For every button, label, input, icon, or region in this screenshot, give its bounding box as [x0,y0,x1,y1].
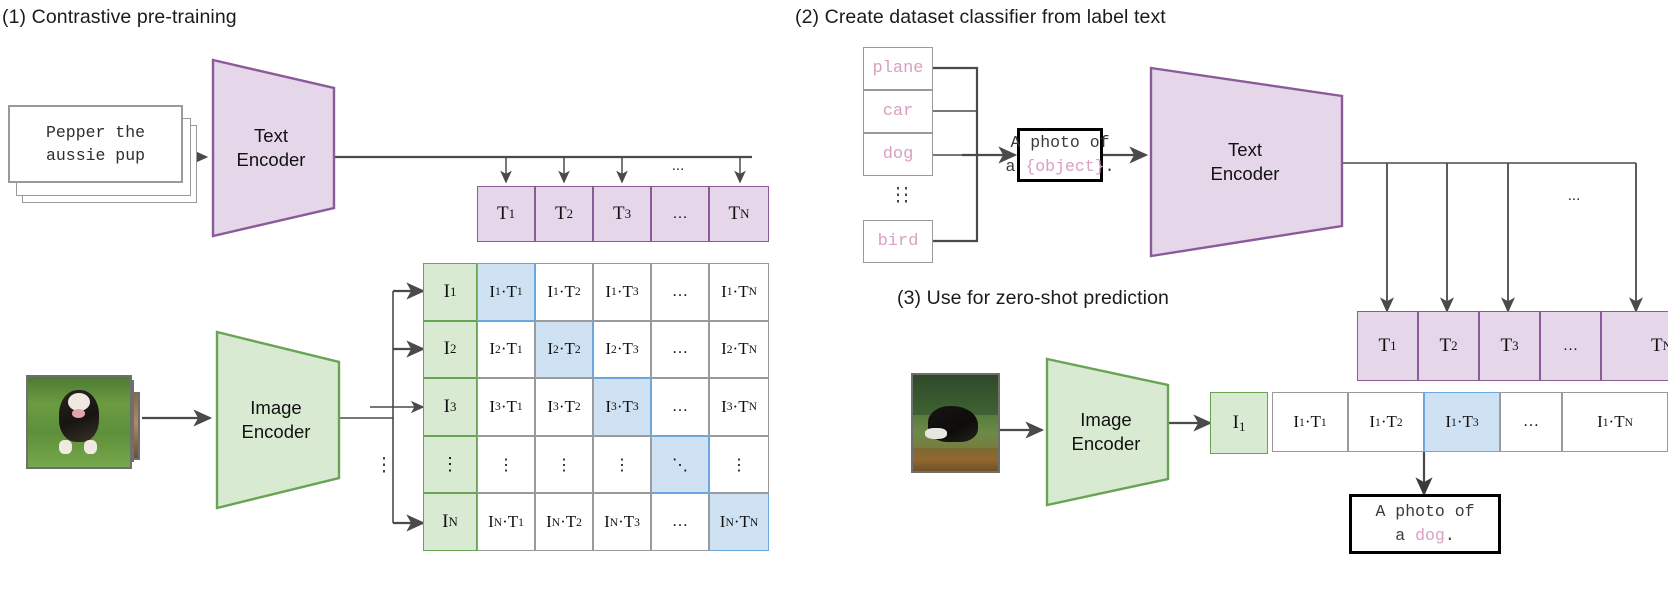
text-embedding-2-cell-5: TN [1601,311,1668,381]
caption-card: Pepper the aussie pup [8,105,183,183]
image-embedding-cell-3: I3 [423,378,477,436]
prediction-score-row: I1·T1I1·T2I1·T3…I1·TN [1272,392,1668,452]
text-encoder-2-line2: Encoder [1211,162,1280,186]
prompt-template-text: A photo of a {object}. [1006,131,1115,179]
class-label-list: planecardogbird [863,47,933,260]
text-embedding-2-cell-2: T2 [1418,311,1479,381]
panel-1-title: (1) Contrastive pre-training [2,6,237,29]
matrix-cell-5-4: … [651,493,709,551]
text-encoder-2: Text Encoder [1146,66,1344,258]
matrix-cell-5-3: IN·T3 [593,493,651,551]
image-encoder-1-line1: Image [250,396,301,420]
image-embedding-cell-4: ⋮ [423,436,477,494]
matrix-cell-5-2: IN·T2 [535,493,593,551]
matrix-cell-2-2: I2·T2 [535,321,593,379]
matrix-cell-1-1: I1·T1 [477,263,535,321]
matrix-cell-3-4: … [651,378,709,436]
prompt-object-slot: {object} [1025,157,1104,176]
matrix-row: I2·T1I2·T2I2·T3…I2·TN [477,321,769,379]
matrix-cell-1-4: … [651,263,709,321]
clip-diagram: (1) Contrastive pre-training Pepper the … [0,0,1668,598]
caption-text: Pepper the aussie pup [46,121,145,168]
label-list-ellipsis-right: ⋮ [894,182,918,208]
similarity-matrix: I1·T1I1·T2I1·T3…I1·TNI2·T1I2·T2I2·T3…I2·… [477,263,769,551]
matrix-cell-1-3: I1·T3 [593,263,651,321]
training-photo-1-puppy [26,375,132,469]
image-bus-ellipsis: ⋮ [374,452,394,478]
panel-3-title: (3) Use for zero-shot prediction [897,287,1169,310]
text-embedding-cell-3: T3 [593,186,651,242]
image-encoder-2: Image Encoder [1042,357,1170,507]
matrix-cell-1-2: I1·T2 [535,263,593,321]
matrix-cell-1-5: I1·TN [709,263,769,321]
matrix-cell-5-5: IN·TN [709,493,769,551]
matrix-cell-2-1: I2·T1 [477,321,535,379]
text-encoder-2-line1: Text [1228,138,1262,162]
matrix-cell-5-1: IN·T1 [477,493,535,551]
matrix-cell-3-1: I3·T1 [477,378,535,436]
text-embedding-2-cell-3: T3 [1479,311,1540,381]
matrix-cell-3-3: I3·T3 [593,378,651,436]
matrix-cell-4-5: ⋮ [709,436,769,494]
prediction-cell-5: I1·TN [1562,392,1668,452]
result-predicted-class: dog [1415,526,1445,545]
image-encoder-2-line1: Image [1080,408,1131,432]
prediction-result-box: A photo of a dog. [1349,494,1501,554]
matrix-cell-2-3: I2·T3 [593,321,651,379]
matrix-cell-4-2: ⋮ [535,436,593,494]
prediction-cell-2: I1·T2 [1348,392,1424,452]
class-label-car[interactable]: car [863,90,933,133]
text-embedding-cell-5: TN [709,186,769,242]
class-label-plane[interactable]: plane [863,47,933,90]
matrix-row: I1·T1I1·T2I1·T3…I1·TN [477,263,769,321]
image-encoder-1: Image Encoder [210,330,342,510]
result-line-2-prefix: a [1395,526,1415,545]
text-encoder-1: Text Encoder [206,58,336,238]
prediction-result-text: A photo of a dog. [1375,500,1474,548]
prompt-line-2-suffix: . [1105,157,1115,176]
class-label-bird[interactable]: bird [863,220,933,263]
text-embedding-cell-4: … [651,186,709,242]
text-embedding-row: T1T2T3…TN [477,186,769,242]
caption-line-2: aussie pup [46,146,145,165]
prompt-line-1: A photo of [1010,133,1109,152]
matrix-cell-3-5: I3·TN [709,378,769,436]
text-embedding-cell-1: T1 [477,186,535,242]
prompt-line-2-prefix: a [1006,157,1026,176]
caption-line-1: Pepper the [46,123,145,142]
text-bus-ellipsis: ... [660,155,696,175]
image-embedding-cell-1: I1 [423,263,477,321]
image-encoder-2-line2: Encoder [1072,432,1141,456]
image-embedding-cell-5: IN [423,493,477,551]
prediction-cell-1: I1·T1 [1272,392,1348,452]
matrix-cell-3-2: I3·T2 [535,378,593,436]
image-encoder-1-line2: Encoder [242,420,311,444]
matrix-cell-4-4: ⋱ [651,436,709,494]
matrix-row: ⋮⋮⋮⋱⋮ [477,436,769,494]
text-embedding-row-2: T1T2T3…TN [1357,311,1668,381]
matrix-cell-4-1: ⋮ [477,436,535,494]
prediction-cell-3: I1·T3 [1424,392,1500,452]
text-embedding-cell-2: T2 [535,186,593,242]
matrix-row: I3·T1I3·T2I3·T3…I3·TN [477,378,769,436]
prediction-cell-4: … [1500,392,1562,452]
test-photo-dog [911,373,1000,473]
panel-2-title: (2) Create dataset classifier from label… [795,6,1166,29]
prompt-template-box: A photo of a {object}. [1017,128,1103,182]
text-embedding-2-cell-4: … [1540,311,1601,381]
matrix-cell-2-5: I2·TN [709,321,769,379]
text-encoder-1-line1: Text [254,124,288,148]
matrix-cell-4-3: ⋮ [593,436,651,494]
result-line-1: A photo of [1375,502,1474,521]
class-label-dog[interactable]: dog [863,133,933,176]
image-embedding-column: I1I2I3⋮IN [423,263,477,551]
test-image-embedding: I1 [1210,392,1268,454]
text-encoder-1-line2: Encoder [237,148,306,172]
image-embedding-cell-2: I2 [423,321,477,379]
text-bus-2-ellipsis: ... [1556,185,1592,205]
matrix-row: IN·T1IN·T2IN·T3…IN·TN [477,493,769,551]
result-line-2-suffix: . [1445,526,1455,545]
test-image-embedding-label: I1 [1233,412,1246,435]
matrix-cell-2-4: … [651,321,709,379]
text-embedding-2-cell-1: T1 [1357,311,1418,381]
